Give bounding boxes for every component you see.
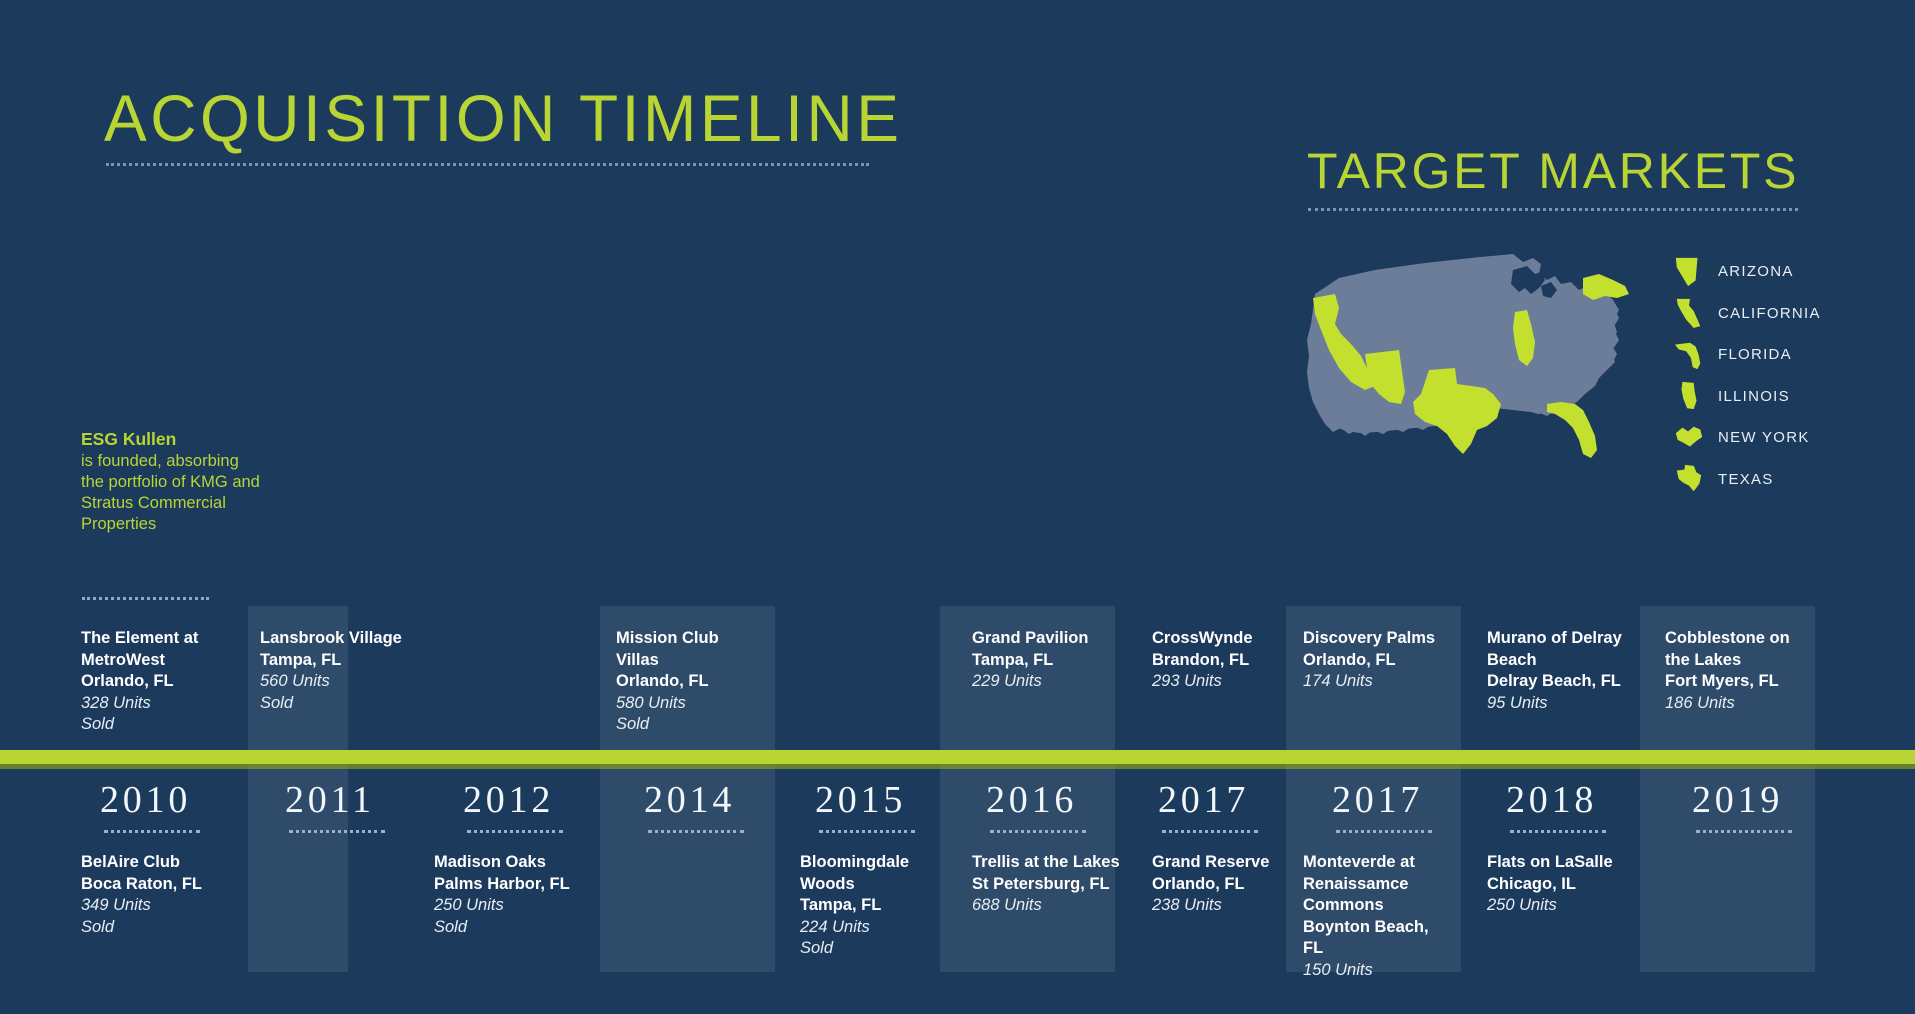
property-status: Sold xyxy=(616,714,766,736)
property-card-below: Trellis at the LakesSt Petersburg, FL688… xyxy=(972,852,1122,917)
property-name: Trellis at the Lakes xyxy=(972,852,1122,874)
property-location: Delray Beach, FL xyxy=(1487,671,1637,693)
arizona-state-icon xyxy=(1672,255,1706,289)
property-card-above: Discovery PalmsOrlando, FL174 Units xyxy=(1303,628,1453,693)
property-location: Brandon, FL xyxy=(1152,650,1302,672)
year-divider xyxy=(648,830,744,833)
property-units: 174 Units xyxy=(1303,671,1453,693)
timeline-bar-shadow xyxy=(0,764,1915,769)
property-name: Mission Club Villas xyxy=(616,628,766,671)
property-units: 250 Units xyxy=(1487,895,1637,917)
property-card-below: Bloomingdale WoodsTampa, FL224 UnitsSold xyxy=(800,852,950,960)
timeline-year: 2017 xyxy=(1332,778,1423,822)
legend-label: TEXAS xyxy=(1718,471,1774,488)
legend-label: CALIFORNIA xyxy=(1718,305,1821,322)
timeline-year: 2010 xyxy=(100,778,191,822)
property-card-above: Grand PavilionTampa, FL229 Units xyxy=(972,628,1122,693)
legend-row: NEW YORK xyxy=(1672,417,1892,459)
property-units: 293 Units xyxy=(1152,671,1302,693)
property-card-below: Grand ReserveOrlando, FL238 Units xyxy=(1152,852,1302,917)
property-location: Palms Harbor, FL xyxy=(434,874,584,896)
property-name: CrossWynde xyxy=(1152,628,1302,650)
property-name: Flats on LaSalle xyxy=(1487,852,1637,874)
property-card-below: Monteverde at Renaissamce CommonsBoynton… xyxy=(1303,852,1453,981)
timeline-year: 2016 xyxy=(986,778,1077,822)
property-units: 150 Units xyxy=(1303,960,1453,982)
property-units: 224 Units xyxy=(800,917,950,939)
legend-row: CALIFORNIA xyxy=(1672,293,1892,335)
us-map-icon xyxy=(1295,232,1640,487)
timeline-year: 2012 xyxy=(463,778,554,822)
property-location: Orlando, FL xyxy=(1152,874,1302,896)
timeline-year: 2019 xyxy=(1692,778,1783,822)
property-card-below: BelAire ClubBoca Raton, FL349 UnitsSold xyxy=(81,852,231,938)
property-card-below: Madison OaksPalms Harbor, FL250 UnitsSol… xyxy=(434,852,584,938)
property-name: Madison Oaks xyxy=(434,852,584,874)
property-name: BelAire Club xyxy=(81,852,231,874)
target-markets-divider xyxy=(1308,208,1798,211)
property-status: Sold xyxy=(434,917,584,939)
property-location: Tampa, FL xyxy=(972,650,1122,672)
legend-row: ILLINOIS xyxy=(1672,376,1892,418)
timeline-bar xyxy=(0,750,1915,764)
property-name: Grand Pavilion xyxy=(972,628,1122,650)
illinois-state-icon xyxy=(1672,379,1706,413)
property-card-above: Cobblestone on the LakesFort Myers, FL18… xyxy=(1665,628,1815,714)
property-status: Sold xyxy=(260,693,410,715)
legend-row: FLORIDA xyxy=(1672,334,1892,376)
property-status: Sold xyxy=(800,938,950,960)
property-name: Murano of Delray Beach xyxy=(1487,628,1637,671)
property-location: St Petersburg, FL xyxy=(972,874,1122,896)
property-units: 250 Units xyxy=(434,895,584,917)
property-location: Chicago, IL xyxy=(1487,874,1637,896)
property-units: 229 Units xyxy=(972,671,1122,693)
founding-divider xyxy=(82,597,209,600)
year-divider xyxy=(289,830,385,833)
property-card-above: Murano of Delray BeachDelray Beach, FL95… xyxy=(1487,628,1637,714)
property-card-above: The Element at MetroWestOrlando, FL328 U… xyxy=(81,628,231,736)
year-divider xyxy=(1510,830,1606,833)
year-divider xyxy=(1696,830,1792,833)
legend-label: FLORIDA xyxy=(1718,346,1792,363)
property-card-below: Flats on LaSalleChicago, IL250 Units xyxy=(1487,852,1637,917)
timeline-year: 2017 xyxy=(1158,778,1249,822)
property-name: Grand Reserve xyxy=(1152,852,1302,874)
property-units: 186 Units xyxy=(1665,693,1815,715)
property-card-above: CrossWyndeBrandon, FL293 Units xyxy=(1152,628,1302,693)
timeline-year: 2011 xyxy=(285,778,375,822)
year-divider xyxy=(1336,830,1432,833)
texas-state-icon xyxy=(1672,462,1706,496)
legend-row: TEXAS xyxy=(1672,459,1892,501)
target-markets-title: TARGET MARKETS xyxy=(1307,146,1799,196)
florida-state-icon xyxy=(1672,338,1706,372)
property-location: Orlando, FL xyxy=(1303,650,1453,672)
year-divider xyxy=(990,830,1086,833)
property-units: 328 Units xyxy=(81,693,231,715)
title-divider xyxy=(106,163,869,166)
infographic-root: ACQUISITION TIMELINE TARGET MARKETS ESG … xyxy=(0,0,1915,1014)
legend-row: ARIZONA xyxy=(1672,251,1892,293)
legend-label: ILLINOIS xyxy=(1718,388,1790,405)
year-divider xyxy=(819,830,915,833)
year-divider xyxy=(1162,830,1258,833)
property-units: 580 Units xyxy=(616,693,766,715)
property-status: Sold xyxy=(81,714,231,736)
founding-note: ESG Kullenis founded, absorbing the port… xyxy=(81,428,261,535)
property-units: 349 Units xyxy=(81,895,231,917)
timeline-year: 2015 xyxy=(815,778,906,822)
property-units: 560 Units xyxy=(260,671,410,693)
property-name: Bloomingdale Woods xyxy=(800,852,950,895)
property-name: Lansbrook Village xyxy=(260,628,410,650)
legend-label: NEW YORK xyxy=(1718,429,1810,446)
property-units: 688 Units xyxy=(972,895,1122,917)
california-state-icon xyxy=(1672,296,1706,330)
property-card-above: Mission Club VillasOrlando, FL580 UnitsS… xyxy=(616,628,766,736)
property-location: Orlando, FL xyxy=(81,671,231,693)
founding-body: is founded, absorbing the portfolio of K… xyxy=(81,452,260,533)
property-location: Boynton Beach, FL xyxy=(1303,917,1453,960)
property-units: 95 Units xyxy=(1487,693,1637,715)
property-card-above: Lansbrook VillageTampa, FL560 UnitsSold xyxy=(260,628,410,714)
property-location: Orlando, FL xyxy=(616,671,766,693)
year-divider xyxy=(467,830,563,833)
page-title: ACQUISITION TIMELINE xyxy=(104,85,902,151)
year-divider xyxy=(104,830,200,833)
property-location: Boca Raton, FL xyxy=(81,874,231,896)
property-location: Tampa, FL xyxy=(800,895,950,917)
property-units: 238 Units xyxy=(1152,895,1302,917)
property-location: Tampa, FL xyxy=(260,650,410,672)
property-location: Fort Myers, FL xyxy=(1665,671,1815,693)
legend-label: ARIZONA xyxy=(1718,263,1794,280)
property-status: Sold xyxy=(81,917,231,939)
property-name: Cobblestone on the Lakes xyxy=(1665,628,1815,671)
new-york-state-icon xyxy=(1672,421,1706,455)
founding-company: ESG Kullen xyxy=(81,428,261,451)
property-name: The Element at MetroWest xyxy=(81,628,231,671)
target-markets-legend: ARIZONACALIFORNIAFLORIDAILLINOISNEW YORK… xyxy=(1672,251,1892,500)
property-name: Monteverde at Renaissamce Commons xyxy=(1303,852,1453,917)
timeline-year: 2018 xyxy=(1506,778,1597,822)
property-name: Discovery Palms xyxy=(1303,628,1453,650)
timeline-year: 2014 xyxy=(644,778,735,822)
